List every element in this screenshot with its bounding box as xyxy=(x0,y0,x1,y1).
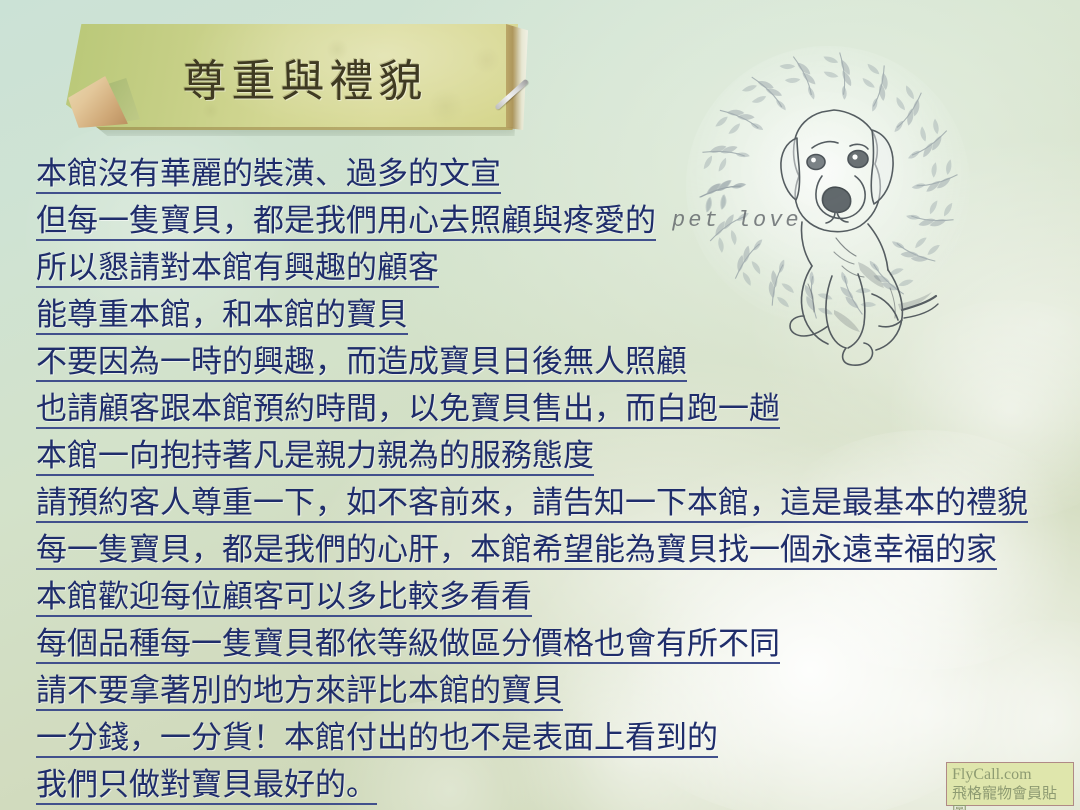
text-line-content: 本館歡迎每位顧客可以多比較多看看 xyxy=(36,579,532,617)
text-line: 我們只做對寶貝最好的。 xyxy=(36,763,1056,810)
text-line: 本館歡迎每位顧客可以多比較多看看 xyxy=(36,575,1056,622)
text-line-content: 每一隻寶貝，都是我們的心肝，本館希望能為寶貝找一個永遠幸福的家 xyxy=(36,532,997,570)
text-line: 每一隻寶貝，都是我們的心肝，本館希望能為寶貝找一個永遠幸福的家 xyxy=(36,528,1056,575)
text-line-content: 所以懇請對本館有興趣的顧客 xyxy=(36,250,439,288)
text-line-content: 我們只做對寶貝最好的。 xyxy=(36,767,377,805)
text-line-content: 請不要拿著別的地方來評比本館的寶貝 xyxy=(36,673,563,711)
text-line-content: 每個品種每一隻寶貝都依等級做區分價格也會有所不同 xyxy=(36,626,780,664)
text-line-content: 能尊重本館，和本館的寶貝 xyxy=(36,297,408,335)
slide-canvas: pet love 尊重與禮貌 本館沒有華麗的裝潢、過多的文宣 但每一隻寶貝，都是… xyxy=(0,0,1080,810)
text-line: 一分錢，一分貨！本館付出的也不是表面上看到的 xyxy=(36,716,1056,763)
text-line-content: 不要因為一時的興趣，而造成寶貝日後無人照顧 xyxy=(36,344,687,382)
text-line-content: 請預約客人尊重一下，如不客前來，請告知一下本館，這是最基本的禮貌 xyxy=(36,485,1028,523)
text-line-content: 也請顧客跟本館預約時間，以免寶貝售出，而白跑一趟 xyxy=(36,391,780,429)
text-line: 所以懇請對本館有興趣的顧客 xyxy=(36,246,1056,293)
page-title: 尊重與禮貌 xyxy=(66,24,518,130)
text-line-content: 本館沒有華麗的裝潢、過多的文宣 xyxy=(36,156,501,194)
text-line-content: 本館一向抱持著凡是親力親為的服務態度 xyxy=(36,438,594,476)
watermark-chinese: 飛格寵物會員貼圖 xyxy=(952,784,1068,810)
watermark: FlyCall.com 飛格寵物會員貼圖 xyxy=(946,762,1074,806)
text-line: 但每一隻寶貝，都是我們用心去照顧與疼愛的 xyxy=(36,199,1056,246)
text-line: 每個品種每一隻寶貝都依等級做區分價格也會有所不同 xyxy=(36,622,1056,669)
text-line: 請預約客人尊重一下，如不客前來，請告知一下本館，這是最基本的禮貌 xyxy=(36,481,1056,528)
text-line: 也請顧客跟本館預約時間，以免寶貝售出，而白跑一趟 xyxy=(36,387,1056,434)
body-text-block: 本館沒有華麗的裝潢、過多的文宣 但每一隻寶貝，都是我們用心去照顧與疼愛的 所以懇… xyxy=(36,152,1056,810)
text-line-content: 一分錢，一分貨！本館付出的也不是表面上看到的 xyxy=(36,720,718,758)
text-line: 不要因為一時的興趣，而造成寶貝日後無人照顧 xyxy=(36,340,1056,387)
text-line: 能尊重本館，和本館的寶貝 xyxy=(36,293,1056,340)
text-line: 請不要拿著別的地方來評比本館的寶貝 xyxy=(36,669,1056,716)
text-line: 本館一向抱持著凡是親力親為的服務態度 xyxy=(36,434,1056,481)
text-line-content: 但每一隻寶貝，都是我們用心去照顧與疼愛的 xyxy=(36,203,656,241)
watermark-english: FlyCall.com xyxy=(952,765,1068,784)
title-banner: 尊重與禮貌 xyxy=(66,24,526,142)
text-line: 本館沒有華麗的裝潢、過多的文宣 xyxy=(36,152,1056,199)
